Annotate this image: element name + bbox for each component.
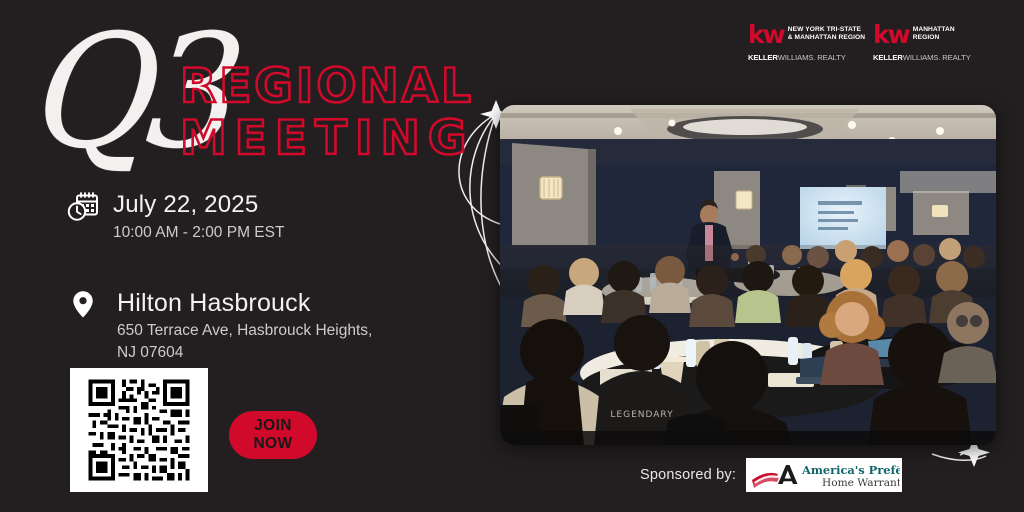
sponsored-by-label: Sponsored by:	[640, 467, 736, 483]
date-texts: July 22, 2025 10:00 AM - 2:00 PM EST	[113, 190, 284, 243]
kw-logo-text: MANHATTAN REGION	[913, 26, 955, 42]
kw-region-line-2: REGION	[913, 34, 955, 42]
kw-region-line-1: MANHATTAN	[913, 26, 955, 34]
event-venue: Hilton Hasbrouck	[117, 289, 372, 317]
conference-room-photo: LEGENDARY	[500, 105, 996, 445]
location-texts: Hilton Hasbrouck 650 Terrace Ave, Hasbro…	[113, 287, 372, 363]
svg-text:Home Warranty: Home Warranty	[822, 477, 900, 489]
kw-brand-bold-2: KELLER	[873, 53, 903, 62]
event-time: 10:00 AM - 2:00 PM EST	[113, 223, 284, 244]
event-address-line-2: NJ 07604	[117, 343, 372, 364]
join-now-line-2: NOW	[253, 435, 292, 453]
location-row: Hilton Hasbrouck 650 Terrace Ave, Hasbro…	[66, 287, 396, 363]
svg-text:LEGENDARY: LEGENDARY	[610, 410, 673, 420]
svg-text:America's Preferred: America's Preferred	[801, 463, 900, 477]
calendar-clock-icon	[66, 190, 100, 224]
svg-text:™: ™	[896, 465, 900, 470]
sponsor-logo[interactable]: America's Preferred ™ Home Warranty	[746, 458, 902, 492]
join-now-line-1: JOIN	[254, 417, 292, 435]
kw-mark-icon: kw	[873, 25, 909, 46]
kw-brand-light-1: WILLIAMS. REALTY	[778, 53, 846, 62]
headline-line-meeting: MEETING	[180, 116, 474, 161]
event-date: July 22, 2025	[113, 192, 284, 219]
kw-logo-text: NEW YORK TRI-STATE & MANHATTAN REGION	[788, 26, 865, 42]
kw-brand-lockup-1: KELLERWILLIAMS. REALTY	[748, 54, 846, 62]
kw-brand-bold-1: KELLER	[748, 53, 778, 62]
sponsor-block: Sponsored by: America's Preferred ™ Home…	[640, 458, 902, 492]
join-now-button[interactable]: JOIN NOW	[229, 411, 317, 459]
kw-logo-manhattan-region: kw MANHATTAN REGION	[873, 26, 955, 46]
event-info-block: July 22, 2025 10:00 AM - 2:00 PM EST Hil…	[66, 190, 396, 364]
kw-region-line-1: NEW YORK TRI-STATE	[788, 26, 865, 34]
kw-logo-new-york-tri-state: kw NEW YORK TRI-STATE & MANHATTAN REGION	[748, 26, 865, 46]
event-address-line-1: 650 Terrace Ave, Hasbrouck Heights,	[117, 321, 372, 342]
kw-brand-lockup-2: KELLERWILLIAMS. REALTY	[873, 54, 971, 62]
headline-line-regional: REGIONAL	[180, 64, 474, 109]
flyer-canvas: Q3 REGIONAL MEETING July 22, 2025 1	[0, 0, 1024, 512]
map-pin-icon	[66, 287, 100, 321]
qr-code-icon	[83, 376, 195, 484]
kw-mark-icon: kw	[748, 25, 784, 46]
conference-room-illustration: LEGENDARY	[500, 105, 996, 445]
headline-lines: REGIONAL MEETING	[180, 64, 474, 161]
qr-code[interactable]	[70, 368, 208, 492]
date-row: July 22, 2025 10:00 AM - 2:00 PM EST	[66, 190, 396, 243]
kw-region-line-2: & MANHATTAN REGION	[788, 34, 865, 42]
headline-block: Q3 REGIONAL MEETING	[38, 22, 498, 182]
kw-brand-light-2: WILLIAMS. REALTY	[903, 53, 971, 62]
americas-preferred-home-warranty-logo-icon: America's Preferred ™ Home Warranty	[748, 460, 900, 490]
